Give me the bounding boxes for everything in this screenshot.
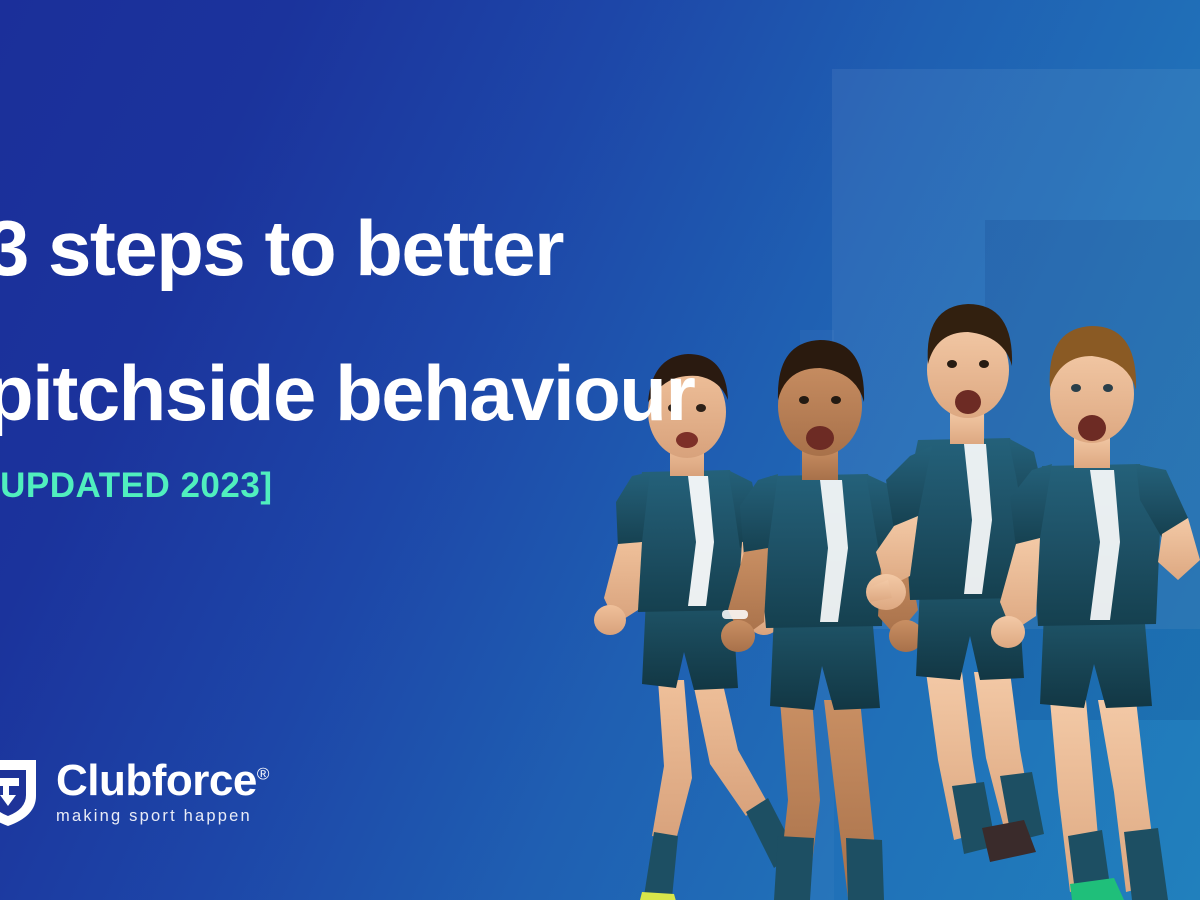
clubforce-logo[interactable]: Clubforce® making sport happen: [0, 756, 269, 828]
subtitle-updated-badge: [UPDATED 2023]: [0, 466, 272, 506]
headline: 3 steps to better pitchside behaviour: [0, 176, 886, 466]
promo-banner: 3 steps to better pitchside behaviour [U…: [0, 0, 1200, 900]
headline-line-2: pitchside behaviour: [0, 321, 886, 466]
logo-word-label: Clubforce: [56, 756, 257, 805]
decorative-rectangle-dark: [985, 220, 1200, 720]
player-3: [866, 304, 1067, 862]
logo-text-block: Clubforce® making sport happen: [56, 759, 269, 825]
shield-arrow-icon: [0, 756, 40, 828]
headline-line-1: 3 steps to better: [0, 176, 886, 321]
logo-tagline: making sport happen: [56, 808, 269, 825]
decorative-rectangle-light: [832, 69, 1200, 629]
logo-wordmark: Clubforce®: [56, 759, 269, 803]
registered-trademark-icon: ®: [257, 765, 269, 784]
player-4: [991, 326, 1200, 900]
